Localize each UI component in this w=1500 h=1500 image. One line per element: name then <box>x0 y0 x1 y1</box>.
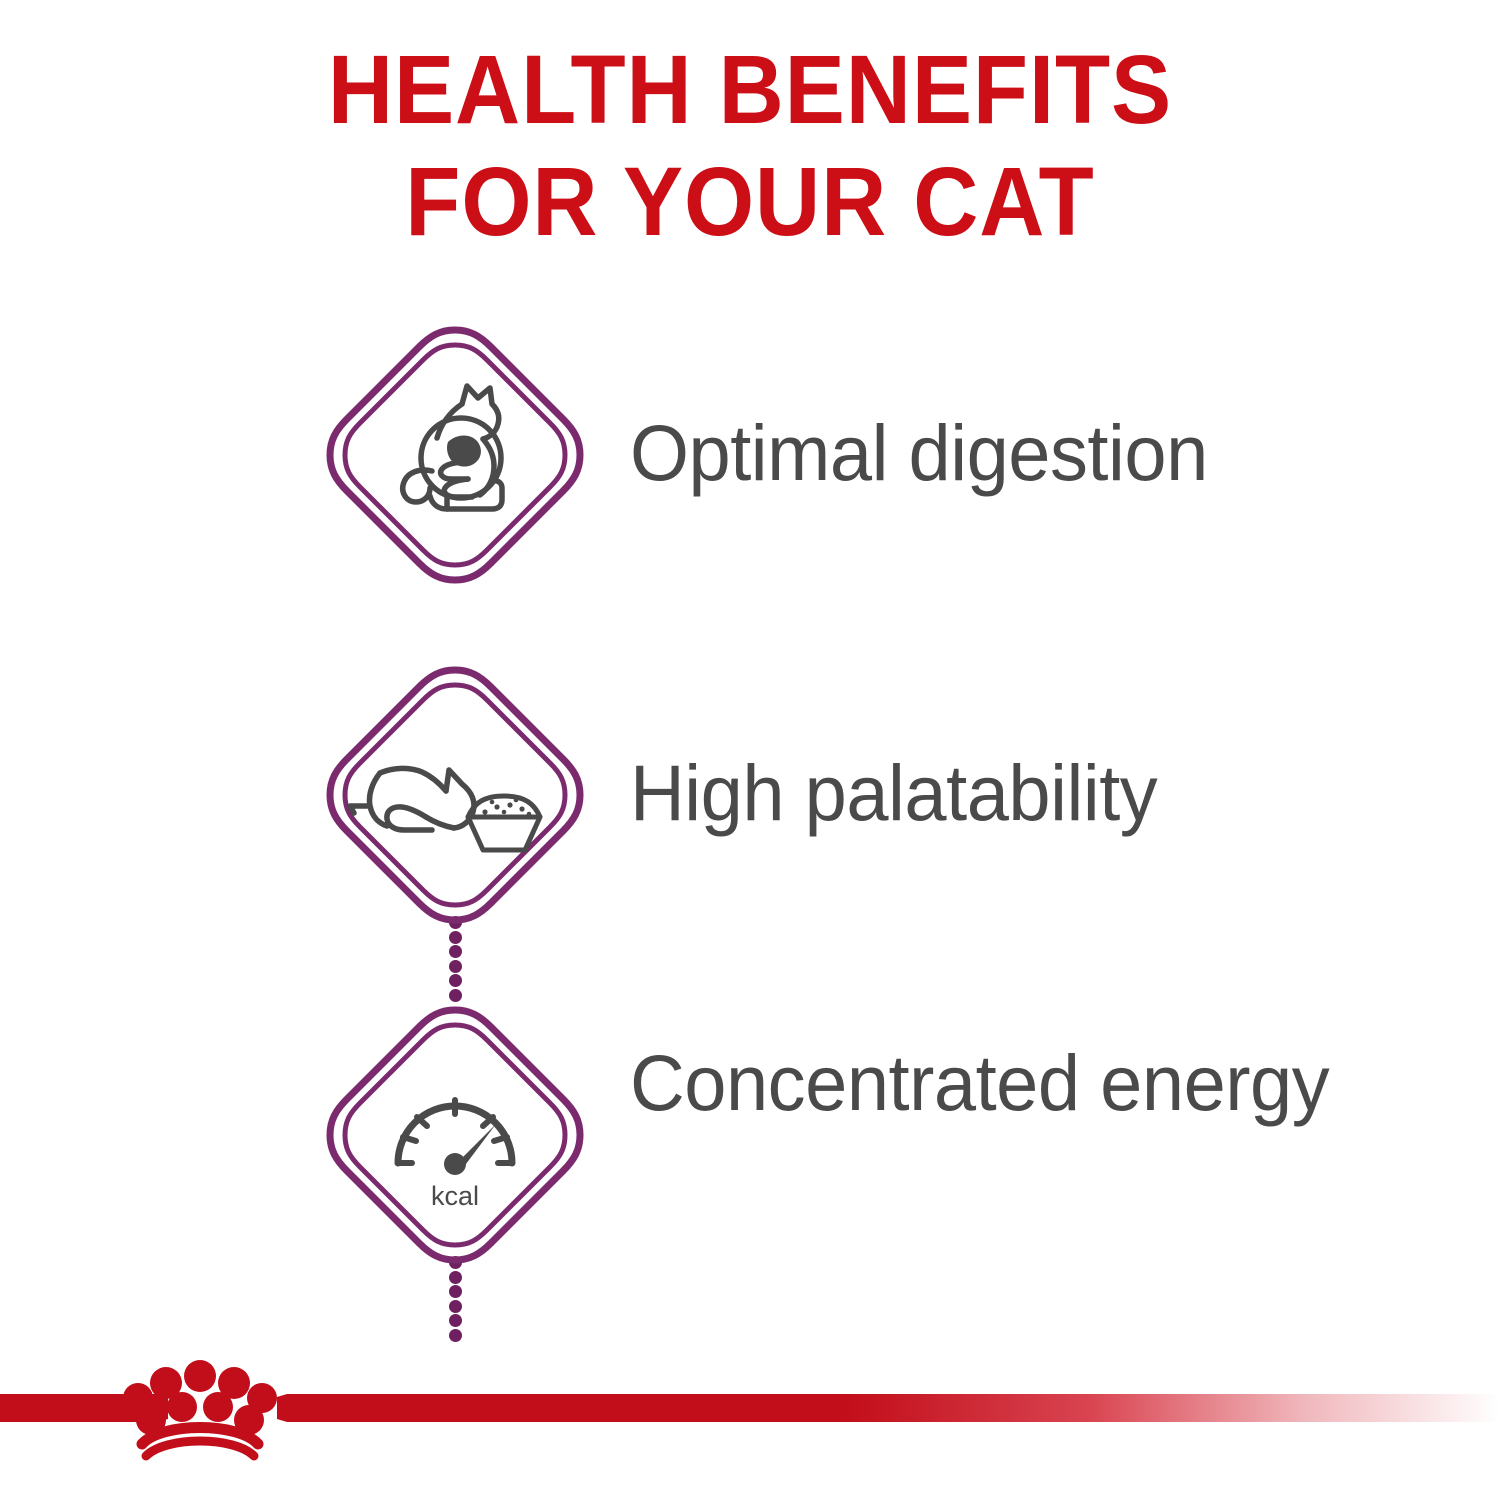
benefit-item-concentrated-energy: kcal Concentrated energy <box>0 1000 1500 1270</box>
page-title-line-2: FOR YOUR CAT <box>53 146 1448 258</box>
royal-canin-crown-logo <box>120 1350 280 1462</box>
connector-dot <box>449 1271 462 1284</box>
footer-brand-band <box>0 1392 1500 1426</box>
connector-dot <box>449 960 462 973</box>
cat-eating-bowl-icon <box>320 660 590 930</box>
benefit-label-high-palatability: High palatability <box>630 745 1417 841</box>
benefit-label-concentrated-energy: Concentrated energy <box>630 1035 1417 1131</box>
page-title: HEALTH BENEFITS FOR YOUR CAT <box>0 34 1500 258</box>
cat-digestion-icon <box>320 320 590 590</box>
connector-dot <box>449 945 462 958</box>
kcal-label: kcal <box>431 1181 479 1211</box>
benefit-item-high-palatability: High palatability <box>0 660 1500 930</box>
page-title-line-1: HEALTH BENEFITS <box>53 34 1448 146</box>
connector-dot <box>449 1314 462 1327</box>
connector-dot <box>449 1329 462 1342</box>
benefits-list: Optimal digestion <box>0 320 1500 1320</box>
kcal-gauge-icon: kcal <box>320 1000 590 1270</box>
connector-dot <box>449 974 462 987</box>
benefit-item-optimal-digestion: Optimal digestion <box>0 320 1500 590</box>
connector-dot <box>449 931 462 944</box>
connector-dot <box>449 1285 462 1298</box>
connector-dot <box>449 1300 462 1313</box>
benefit-label-optimal-digestion: Optimal digestion <box>630 405 1417 501</box>
band-segment-right <box>287 1394 1500 1422</box>
